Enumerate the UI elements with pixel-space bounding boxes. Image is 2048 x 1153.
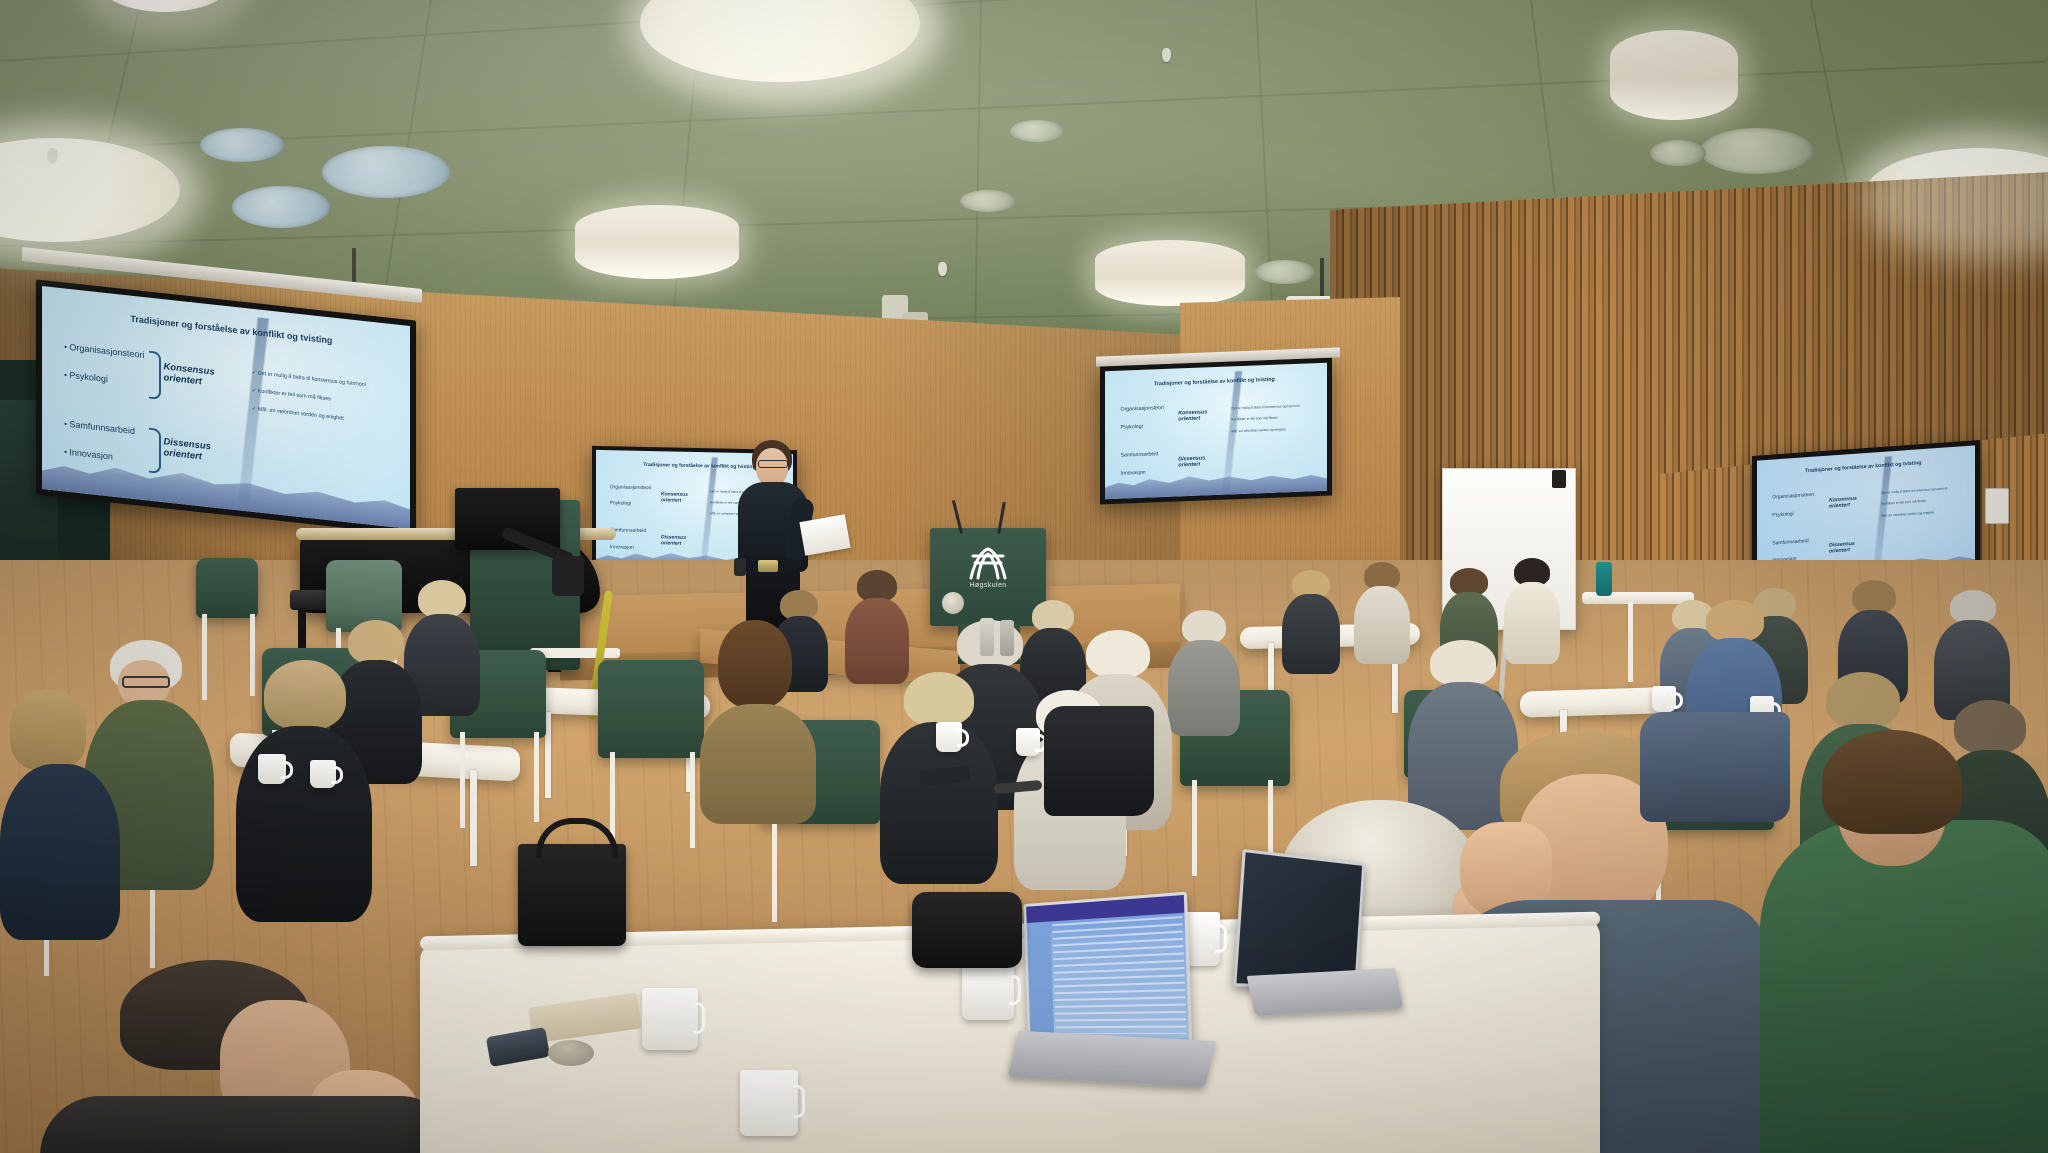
slide-bullet-label: Psykologi — [69, 370, 108, 384]
slide-bullet: • Samfunnsarbeid — [64, 418, 135, 436]
audience-member-torso — [1760, 820, 2048, 1153]
hair — [1826, 672, 1900, 728]
ceiling-downlight — [1095, 240, 1245, 306]
torso — [1168, 640, 1240, 736]
slide-group-label: Konsensus orientert — [1178, 409, 1222, 423]
left-projection-screen: Tradisjoner og forståelse av konflikt og… — [36, 279, 416, 535]
coffee-mug[interactable] — [962, 962, 1014, 1020]
slide-group-label: Dissensus orientert — [661, 534, 700, 547]
ceiling-speaker — [1010, 120, 1064, 142]
ceiling-sensor — [1162, 48, 1171, 62]
backpack[interactable] — [912, 892, 1022, 968]
ceiling-speaker — [232, 186, 330, 228]
ceiling-speaker — [322, 146, 450, 198]
monitor-on-arm — [455, 488, 560, 550]
laptop-screen[interactable] — [1023, 892, 1192, 1047]
chair-leg — [690, 752, 695, 848]
chair-leg — [1192, 780, 1197, 876]
torso — [236, 726, 372, 922]
coffee-mug[interactable] — [936, 722, 962, 752]
audience-member — [1168, 610, 1240, 740]
slide-bullet: Innovasjon — [1121, 470, 1146, 477]
ceiling-speaker — [1650, 140, 1706, 166]
slide-bullet: • Organisasjonsteori — [64, 341, 144, 360]
round-tin — [548, 1040, 594, 1066]
venue-logo-text: Høgskulen — [965, 582, 1011, 589]
slide-group-label: Konsensus orientert — [163, 362, 237, 392]
slide-bullet: Innovasjon — [610, 544, 634, 551]
hair — [1182, 610, 1226, 644]
handbag[interactable] — [518, 844, 626, 946]
slide-bullet: Samfunnsarbeid — [1121, 451, 1159, 458]
hair — [1852, 580, 1896, 614]
hair — [1822, 730, 1962, 834]
jacket-draped — [1044, 706, 1154, 816]
slide-check-item: Konflikter er feil som må fikses — [1881, 499, 1926, 506]
torso — [1354, 586, 1410, 664]
coffee-mug[interactable] — [740, 1070, 798, 1136]
slide-bullet: • Psykologi — [64, 370, 108, 385]
coffee-mug[interactable] — [1016, 728, 1040, 756]
torso — [700, 704, 816, 824]
hair — [348, 620, 404, 664]
slide-brace — [149, 428, 161, 474]
projector-mount — [1320, 258, 1324, 300]
conference-room-photo: Tradisjoner og forståelse av konflikt og… — [0, 0, 2048, 1153]
slide-bullet-label: Samfunnsarbeid — [69, 419, 135, 436]
water-bottle — [980, 618, 994, 656]
coffee-mug[interactable] — [310, 760, 336, 788]
coffee-mug[interactable] — [642, 988, 698, 1050]
hair — [904, 672, 974, 726]
slide-check-item: Det er mulig å bidra til konsensus og ha… — [1232, 403, 1300, 410]
right-projection-screen: Tradisjoner og forståelse av konflikt og… — [1100, 358, 1332, 505]
jacket-draped — [1640, 712, 1790, 822]
presenter-glasses — [758, 460, 788, 468]
ceiling-speaker — [1255, 260, 1315, 284]
audience-member-foreground-shoulder — [40, 1096, 460, 1153]
slide-bullet: Organisasjonsteori — [1772, 492, 1814, 501]
coffee-mug[interactable] — [1652, 686, 1676, 712]
audience-member — [1282, 570, 1340, 680]
ceiling-downlight — [1610, 30, 1738, 120]
institution-logo-icon — [965, 546, 1011, 580]
slide-bullet: Organisasjonsteori — [610, 484, 652, 491]
slide-bullet: Organisasjonsteori — [1121, 405, 1164, 413]
slide-bullet-label: Organisasjonsteori — [69, 342, 144, 360]
ceiling-speaker — [960, 190, 1016, 212]
hair — [1086, 630, 1150, 678]
flipchart-clip — [1552, 470, 1566, 488]
ceiling-speaker — [1700, 128, 1814, 174]
chair[interactable] — [196, 558, 258, 618]
ceiling-speaker — [200, 128, 284, 162]
hair — [718, 620, 792, 708]
presenter-clicker[interactable] — [734, 558, 746, 576]
slide-check-label: Det er mulig å bidra til konsensus og ha… — [258, 370, 366, 388]
side-table-leg — [1628, 602, 1633, 682]
table-leg — [470, 770, 477, 866]
slide-group-label: Dissensus orientert — [1178, 455, 1222, 469]
ceiling-downlight — [100, 0, 230, 12]
hair — [264, 660, 346, 730]
chair-leg — [460, 732, 465, 828]
hair — [10, 690, 86, 770]
laptop-keyboard[interactable] — [1247, 968, 1404, 1016]
slide-brace — [149, 350, 161, 400]
slide-bullet-label: Innovasjon — [69, 447, 113, 462]
hair — [1950, 590, 1996, 624]
chair-leg — [772, 818, 777, 922]
hair — [1430, 640, 1496, 686]
hair — [1706, 600, 1764, 642]
audience-member — [0, 690, 120, 940]
slide-bullet: Psykologi — [610, 501, 631, 507]
monitor-arm-joint — [552, 556, 584, 596]
laptop-message-list — [1052, 916, 1187, 1035]
water-bottle — [1000, 620, 1014, 656]
slide-check-item: ✓ Konflikter er feil som må fikses — [252, 388, 331, 403]
slide-bullet: Psykologi — [1772, 511, 1793, 518]
audience-member — [236, 660, 372, 920]
wall-control-panel[interactable] — [1985, 488, 2009, 524]
ceiling-sensor — [938, 262, 947, 276]
chair[interactable] — [598, 660, 704, 758]
coffee-mug[interactable] — [258, 754, 286, 784]
slide-group-label: Konsensus orientert — [1829, 494, 1873, 509]
slide-check-item: Konflikter er feil som må fikses — [1232, 416, 1278, 422]
slide-bullet: Psykologi — [1121, 424, 1143, 431]
slide-group-label: Dissensus orientert — [1829, 539, 1873, 554]
ceiling-downlight — [575, 205, 739, 279]
slide-bullet: Samfunnsarbeid — [1772, 538, 1808, 547]
slide-check-item: Mål: en velordnet verden og enighet — [1881, 510, 1934, 518]
audience-member — [700, 620, 816, 820]
torso — [1282, 594, 1340, 674]
venue-logo: Høgskulen — [965, 546, 1011, 589]
glasses — [122, 676, 170, 688]
slide-check-item: Det er mulig å bidra til konsensus og ha… — [1881, 486, 1947, 495]
water-bottle — [1596, 562, 1612, 596]
presenter-belt-buckle — [758, 560, 778, 572]
torso — [0, 764, 120, 940]
laptop-screen[interactable] — [1233, 849, 1365, 990]
audience-member — [1354, 562, 1410, 668]
slide-check-item: ✓ Det er mulig å bidra til konsensus og … — [252, 370, 366, 388]
slide-group-label: Konsensus orientert — [661, 491, 700, 504]
slide-check-label: Mål: en velordnet verden og enighet — [258, 407, 344, 422]
slide-check-item: Mål: en velordnet verden og enighet — [1232, 427, 1286, 433]
slide-bullet: • Innovasjon — [64, 447, 113, 462]
hair — [418, 580, 466, 618]
laptop-nav-pane — [1027, 922, 1054, 1043]
lectern-control-panel[interactable] — [942, 592, 964, 614]
slide-group-label: Dissensus orientert — [163, 437, 237, 467]
hair — [1954, 700, 2026, 754]
chair-leg — [534, 732, 539, 822]
slide-check-item: ✓ Mål: en velordnet verden og enighet — [252, 406, 344, 422]
slide-check-label: Konflikter er feil som må fikses — [258, 389, 331, 403]
